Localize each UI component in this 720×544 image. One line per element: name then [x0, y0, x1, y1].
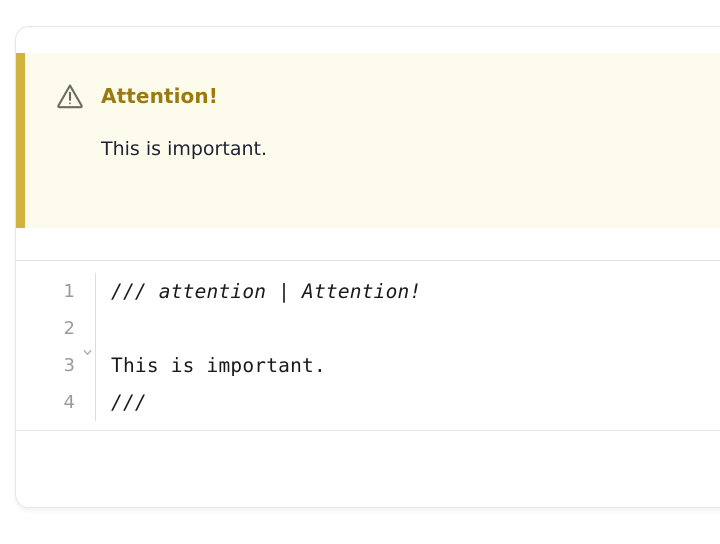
editor-bottom-rule	[16, 430, 720, 431]
code-line[interactable]: 3 This is important.	[16, 347, 720, 384]
admonition-preview-pane: Attention! This is important.	[16, 27, 720, 260]
warning-triangle-icon	[55, 81, 85, 111]
code-line[interactable]: 4 ///	[16, 384, 720, 421]
chevron-down-icon	[82, 347, 93, 358]
admonition-attention: Attention! This is important.	[16, 53, 720, 228]
gutter-rule	[95, 310, 96, 347]
code-line-text[interactable]: ///	[96, 384, 720, 421]
code-line[interactable]: 1 /// attention | Attention!	[16, 273, 720, 310]
editor-footer	[16, 431, 720, 475]
admonition-title-row: Attention!	[49, 81, 720, 111]
code-line-text[interactable]: This is important.	[96, 347, 720, 384]
line-gutter: 3	[16, 347, 79, 384]
preview-card: Attention! This is important. 1 /// atte…	[15, 26, 720, 508]
line-number: 3	[64, 347, 75, 384]
line-number: 1	[64, 273, 75, 310]
fold-toggle[interactable]	[79, 347, 95, 358]
admonition-title: Attention!	[101, 86, 218, 106]
line-gutter: 2	[16, 310, 79, 347]
line-gutter: 4	[16, 384, 79, 421]
line-number: 2	[64, 310, 75, 347]
code-line-text[interactable]: /// attention | Attention!	[96, 273, 720, 310]
code-line[interactable]: 2	[16, 310, 720, 347]
page-root: Attention! This is important. 1 /// atte…	[0, 0, 720, 544]
code-editor[interactable]: 1 /// attention | Attention! 2 3	[16, 261, 720, 485]
admonition-body-text: This is important.	[49, 137, 720, 163]
line-number: 4	[64, 384, 75, 421]
line-gutter: 1	[16, 273, 79, 310]
